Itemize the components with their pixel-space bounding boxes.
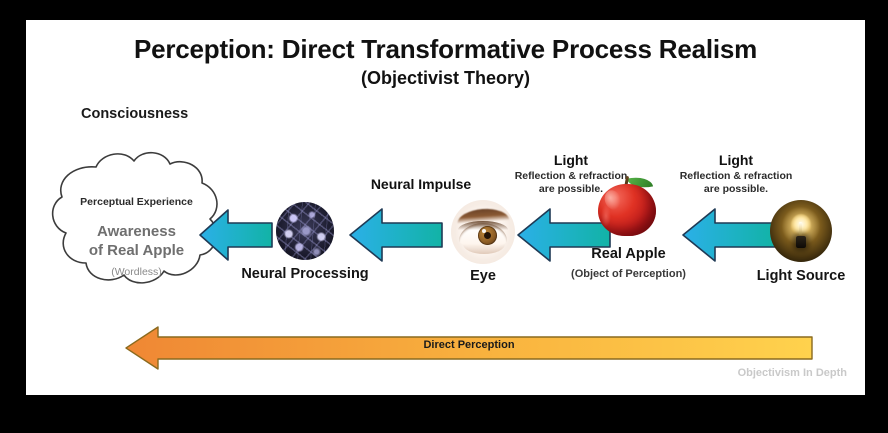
arrow-label-light-apple-line2: are possible. xyxy=(651,183,821,196)
consciousness-label: Consciousness xyxy=(81,106,188,122)
light-bulb-icon xyxy=(770,200,832,262)
page-title: Perception: Direct Transformative Proces… xyxy=(26,34,865,65)
arrow-label-light-apple-line1: Reflection & refraction xyxy=(651,170,821,183)
arrow-label-light-eye-heading: Light xyxy=(486,152,656,168)
caption-light-source: Light Source xyxy=(738,268,864,284)
caption-real-apple-sub: (Object of Perception) xyxy=(556,268,701,280)
arrow-label-light-apple-heading: Light xyxy=(651,152,821,168)
screenshot-root: Perception: Direct Transformative Proces… xyxy=(0,0,888,433)
arrow-label-light-apple: Light Reflection & refraction are possib… xyxy=(651,152,821,196)
caption-real-apple: Real Apple xyxy=(556,246,701,262)
watermark: Objectivism In Depth xyxy=(738,367,847,379)
arrow-source-to-apple xyxy=(681,206,777,264)
slide-canvas: Perception: Direct Transformative Proces… xyxy=(26,20,865,395)
cloud-text-wordless: (Wordless) xyxy=(44,266,229,278)
caption-eye: Eye xyxy=(438,268,528,284)
eye-icon xyxy=(451,200,515,264)
direct-perception-arrow: Direct Perception xyxy=(124,325,814,371)
caption-neural-processing: Neural Processing xyxy=(232,266,378,282)
neural-network-icon xyxy=(276,202,334,260)
arrow-neural-to-consciousness xyxy=(198,206,274,264)
apple-icon xyxy=(598,174,656,236)
page-subtitle: (Objectivist Theory) xyxy=(26,68,865,89)
arrow-eye-to-neural xyxy=(348,206,444,264)
direct-perception-label: Direct Perception xyxy=(124,339,814,351)
